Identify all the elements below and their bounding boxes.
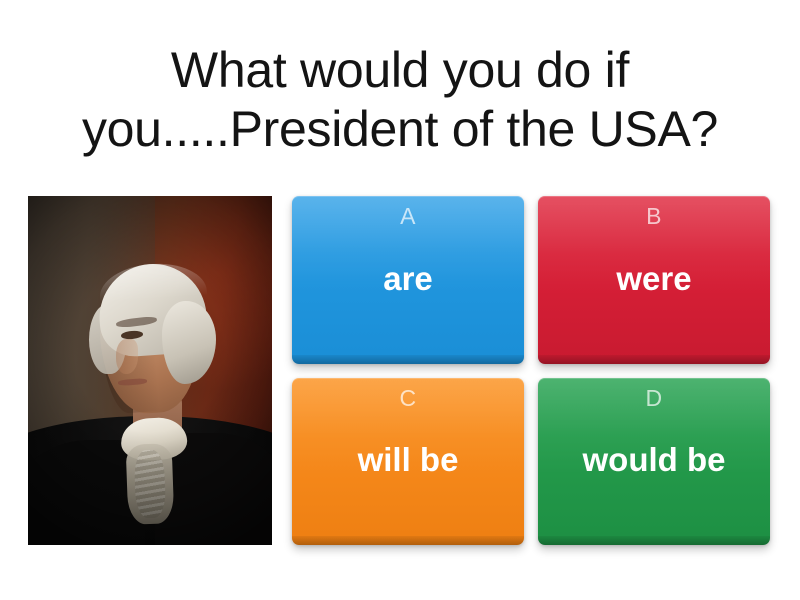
answer-letter-a: A [400, 205, 416, 228]
answer-text-b: were [538, 228, 770, 364]
answer-option-c[interactable]: C will be [292, 378, 524, 546]
portrait-of-george-washington-image [28, 196, 272, 545]
answer-text-c: will be [292, 410, 524, 546]
quiz-stage: What would you do if you.....President o… [0, 0, 800, 600]
answer-letter-c: C [399, 387, 416, 410]
answer-option-b[interactable]: B were [538, 196, 770, 364]
answer-text-a: are [292, 228, 524, 364]
question-area: What would you do if you.....President o… [0, 22, 800, 177]
answer-option-a[interactable]: A are [292, 196, 524, 364]
question-image [28, 196, 272, 545]
answer-letter-d: D [645, 387, 662, 410]
question-text: What would you do if you.....President o… [14, 41, 786, 158]
answer-letter-b: B [646, 205, 662, 228]
answer-options: A are B were C will be D would be [292, 196, 770, 545]
answer-option-d[interactable]: D would be [538, 378, 770, 546]
answer-text-d: would be [538, 410, 770, 546]
portrait-vignette [28, 196, 272, 545]
